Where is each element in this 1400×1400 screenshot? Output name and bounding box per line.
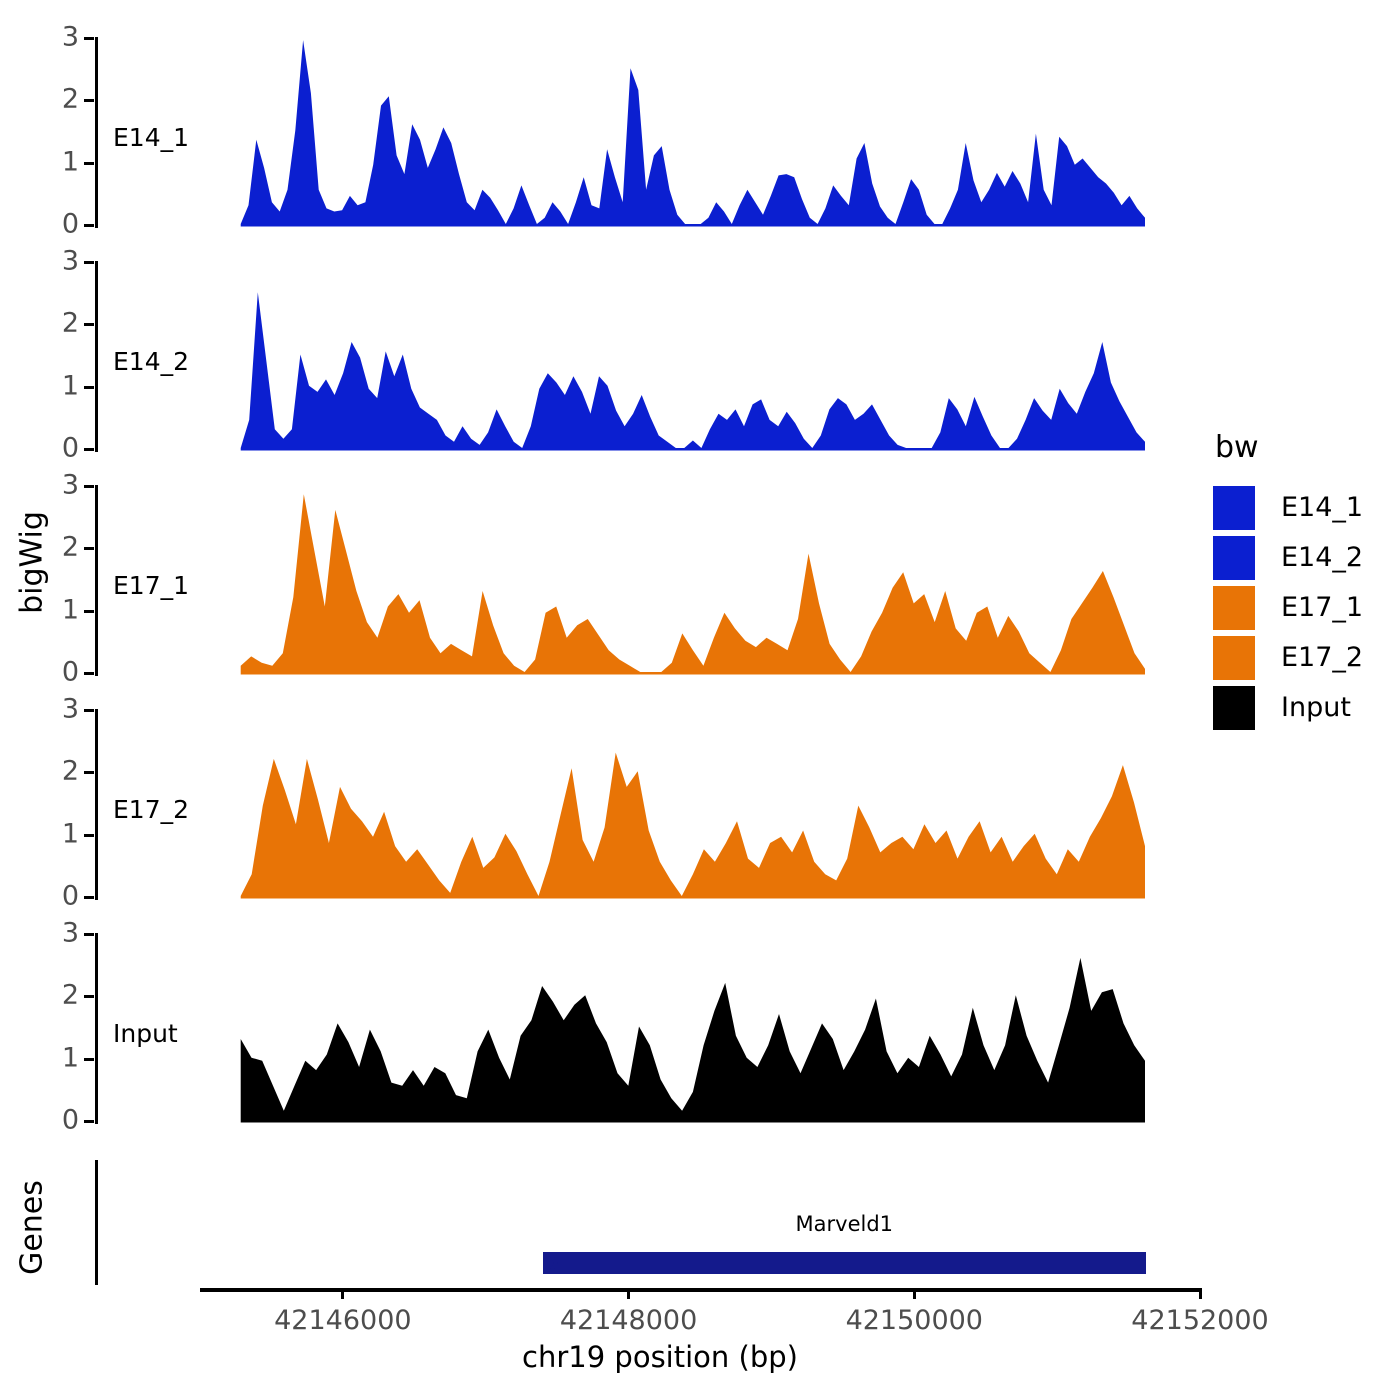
legend-item-e14_2[interactable]: E14_2 bbox=[1213, 534, 1363, 581]
y-tick-label: 3 bbox=[62, 24, 79, 51]
genes-panel: Marveld1 ❯ bbox=[95, 1160, 1200, 1285]
x-axis-line bbox=[200, 1288, 1200, 1292]
y-tick-mark bbox=[84, 37, 94, 40]
track-panel-e14_2: 0123E14_2 bbox=[95, 261, 1200, 452]
x-tick-mark bbox=[627, 1288, 630, 1299]
legend-swatch bbox=[1213, 486, 1255, 530]
y-tick-label: 1 bbox=[62, 820, 79, 847]
y-tick-label: 2 bbox=[62, 534, 79, 561]
y-tick-label: 2 bbox=[62, 86, 79, 113]
legend-item-input[interactable]: Input bbox=[1213, 684, 1363, 731]
legend-items: E14_1E14_2E17_1E17_2Input bbox=[1213, 484, 1363, 731]
y-tick-mark bbox=[84, 1058, 94, 1061]
legend-swatch bbox=[1213, 536, 1255, 580]
x-tick-mark bbox=[1199, 1288, 1202, 1299]
y-tick-mark bbox=[84, 834, 94, 837]
y-tick-label: 1 bbox=[62, 1044, 79, 1071]
legend-label: Input bbox=[1281, 692, 1351, 723]
track-panel-input: 0123Input bbox=[95, 933, 1200, 1124]
legend-title: bw bbox=[1215, 430, 1363, 465]
y-tick-label: 1 bbox=[62, 148, 79, 175]
legend-item-e17_2[interactable]: E17_2 bbox=[1213, 634, 1363, 681]
x-tick-mark bbox=[913, 1288, 916, 1299]
signal-area-e14_1 bbox=[95, 37, 1200, 228]
genes-axis-title: Genes bbox=[15, 1158, 50, 1298]
legend-swatch bbox=[1213, 686, 1255, 730]
legend-label: E17_1 bbox=[1281, 592, 1363, 623]
y-tick-label: 2 bbox=[62, 982, 79, 1009]
y-tick-mark bbox=[84, 1120, 94, 1123]
y-tick-label: 3 bbox=[62, 472, 79, 499]
y-axis-title: bigWig bbox=[15, 463, 50, 663]
gene-body[interactable] bbox=[543, 1252, 1146, 1274]
y-tick-mark bbox=[84, 386, 94, 389]
y-tick-label: 3 bbox=[62, 696, 79, 723]
y-tick-label: 0 bbox=[62, 435, 79, 462]
legend-label: E14_1 bbox=[1281, 492, 1363, 523]
y-tick-mark bbox=[84, 224, 94, 227]
legend: bw E14_1E14_2E17_1E17_2Input bbox=[1213, 430, 1363, 734]
legend-swatch bbox=[1213, 636, 1255, 680]
legend-label: E14_2 bbox=[1281, 542, 1363, 573]
x-tick-label: 42148000 bbox=[560, 1305, 697, 1336]
y-tick-label: 0 bbox=[62, 659, 79, 686]
y-tick-mark bbox=[84, 709, 94, 712]
legend-item-e17_1[interactable]: E17_1 bbox=[1213, 584, 1363, 631]
y-tick-mark bbox=[84, 261, 94, 264]
genome-browser-figure: bigWig Genes 0123E14_10123E14_20123E17_1… bbox=[0, 0, 1400, 1400]
y-tick-label: 2 bbox=[62, 310, 79, 337]
legend-item-e14_1[interactable]: E14_1 bbox=[1213, 484, 1363, 531]
signal-area-e17_1 bbox=[95, 485, 1200, 676]
gene-strand-arrow-icon: ❯ bbox=[545, 1253, 561, 1272]
gene-label: Marveld1 bbox=[796, 1212, 894, 1236]
y-tick-label: 1 bbox=[62, 596, 79, 623]
track-panel-e14_1: 0123E14_1 bbox=[95, 37, 1200, 228]
x-tick-label: 42146000 bbox=[274, 1305, 411, 1336]
y-tick-mark bbox=[84, 99, 94, 102]
legend-label: E17_2 bbox=[1281, 642, 1363, 673]
y-tick-mark bbox=[84, 995, 94, 998]
legend-swatch bbox=[1213, 586, 1255, 630]
x-axis-title: chr19 position (bp) bbox=[400, 1340, 920, 1374]
y-tick-label: 0 bbox=[62, 211, 79, 238]
y-tick-mark bbox=[84, 933, 94, 936]
y-tick-mark bbox=[84, 485, 94, 488]
y-tick-mark bbox=[84, 448, 94, 451]
y-tick-mark bbox=[84, 896, 94, 899]
y-tick-label: 0 bbox=[62, 883, 79, 910]
y-tick-mark bbox=[84, 610, 94, 613]
signal-area-e17_2 bbox=[95, 709, 1200, 900]
signal-area-input bbox=[95, 933, 1200, 1124]
signal-area-e14_2 bbox=[95, 261, 1200, 452]
track-panel-e17_1: 0123E17_1 bbox=[95, 485, 1200, 676]
track-panel-e17_2: 0123E17_2 bbox=[95, 709, 1200, 900]
x-tick-label: 42150000 bbox=[846, 1305, 983, 1336]
y-tick-mark bbox=[84, 547, 94, 550]
y-tick-label: 2 bbox=[62, 758, 79, 785]
genes-axis-spine bbox=[95, 1160, 98, 1285]
y-tick-label: 0 bbox=[62, 1107, 79, 1134]
x-tick-mark bbox=[341, 1288, 344, 1299]
y-tick-mark bbox=[84, 672, 94, 675]
y-tick-mark bbox=[84, 771, 94, 774]
x-tick-label: 42152000 bbox=[1131, 1305, 1268, 1336]
y-tick-label: 3 bbox=[62, 920, 79, 947]
y-tick-mark bbox=[84, 162, 94, 165]
y-tick-label: 3 bbox=[62, 248, 79, 275]
y-tick-mark bbox=[84, 323, 94, 326]
y-tick-label: 1 bbox=[62, 372, 79, 399]
